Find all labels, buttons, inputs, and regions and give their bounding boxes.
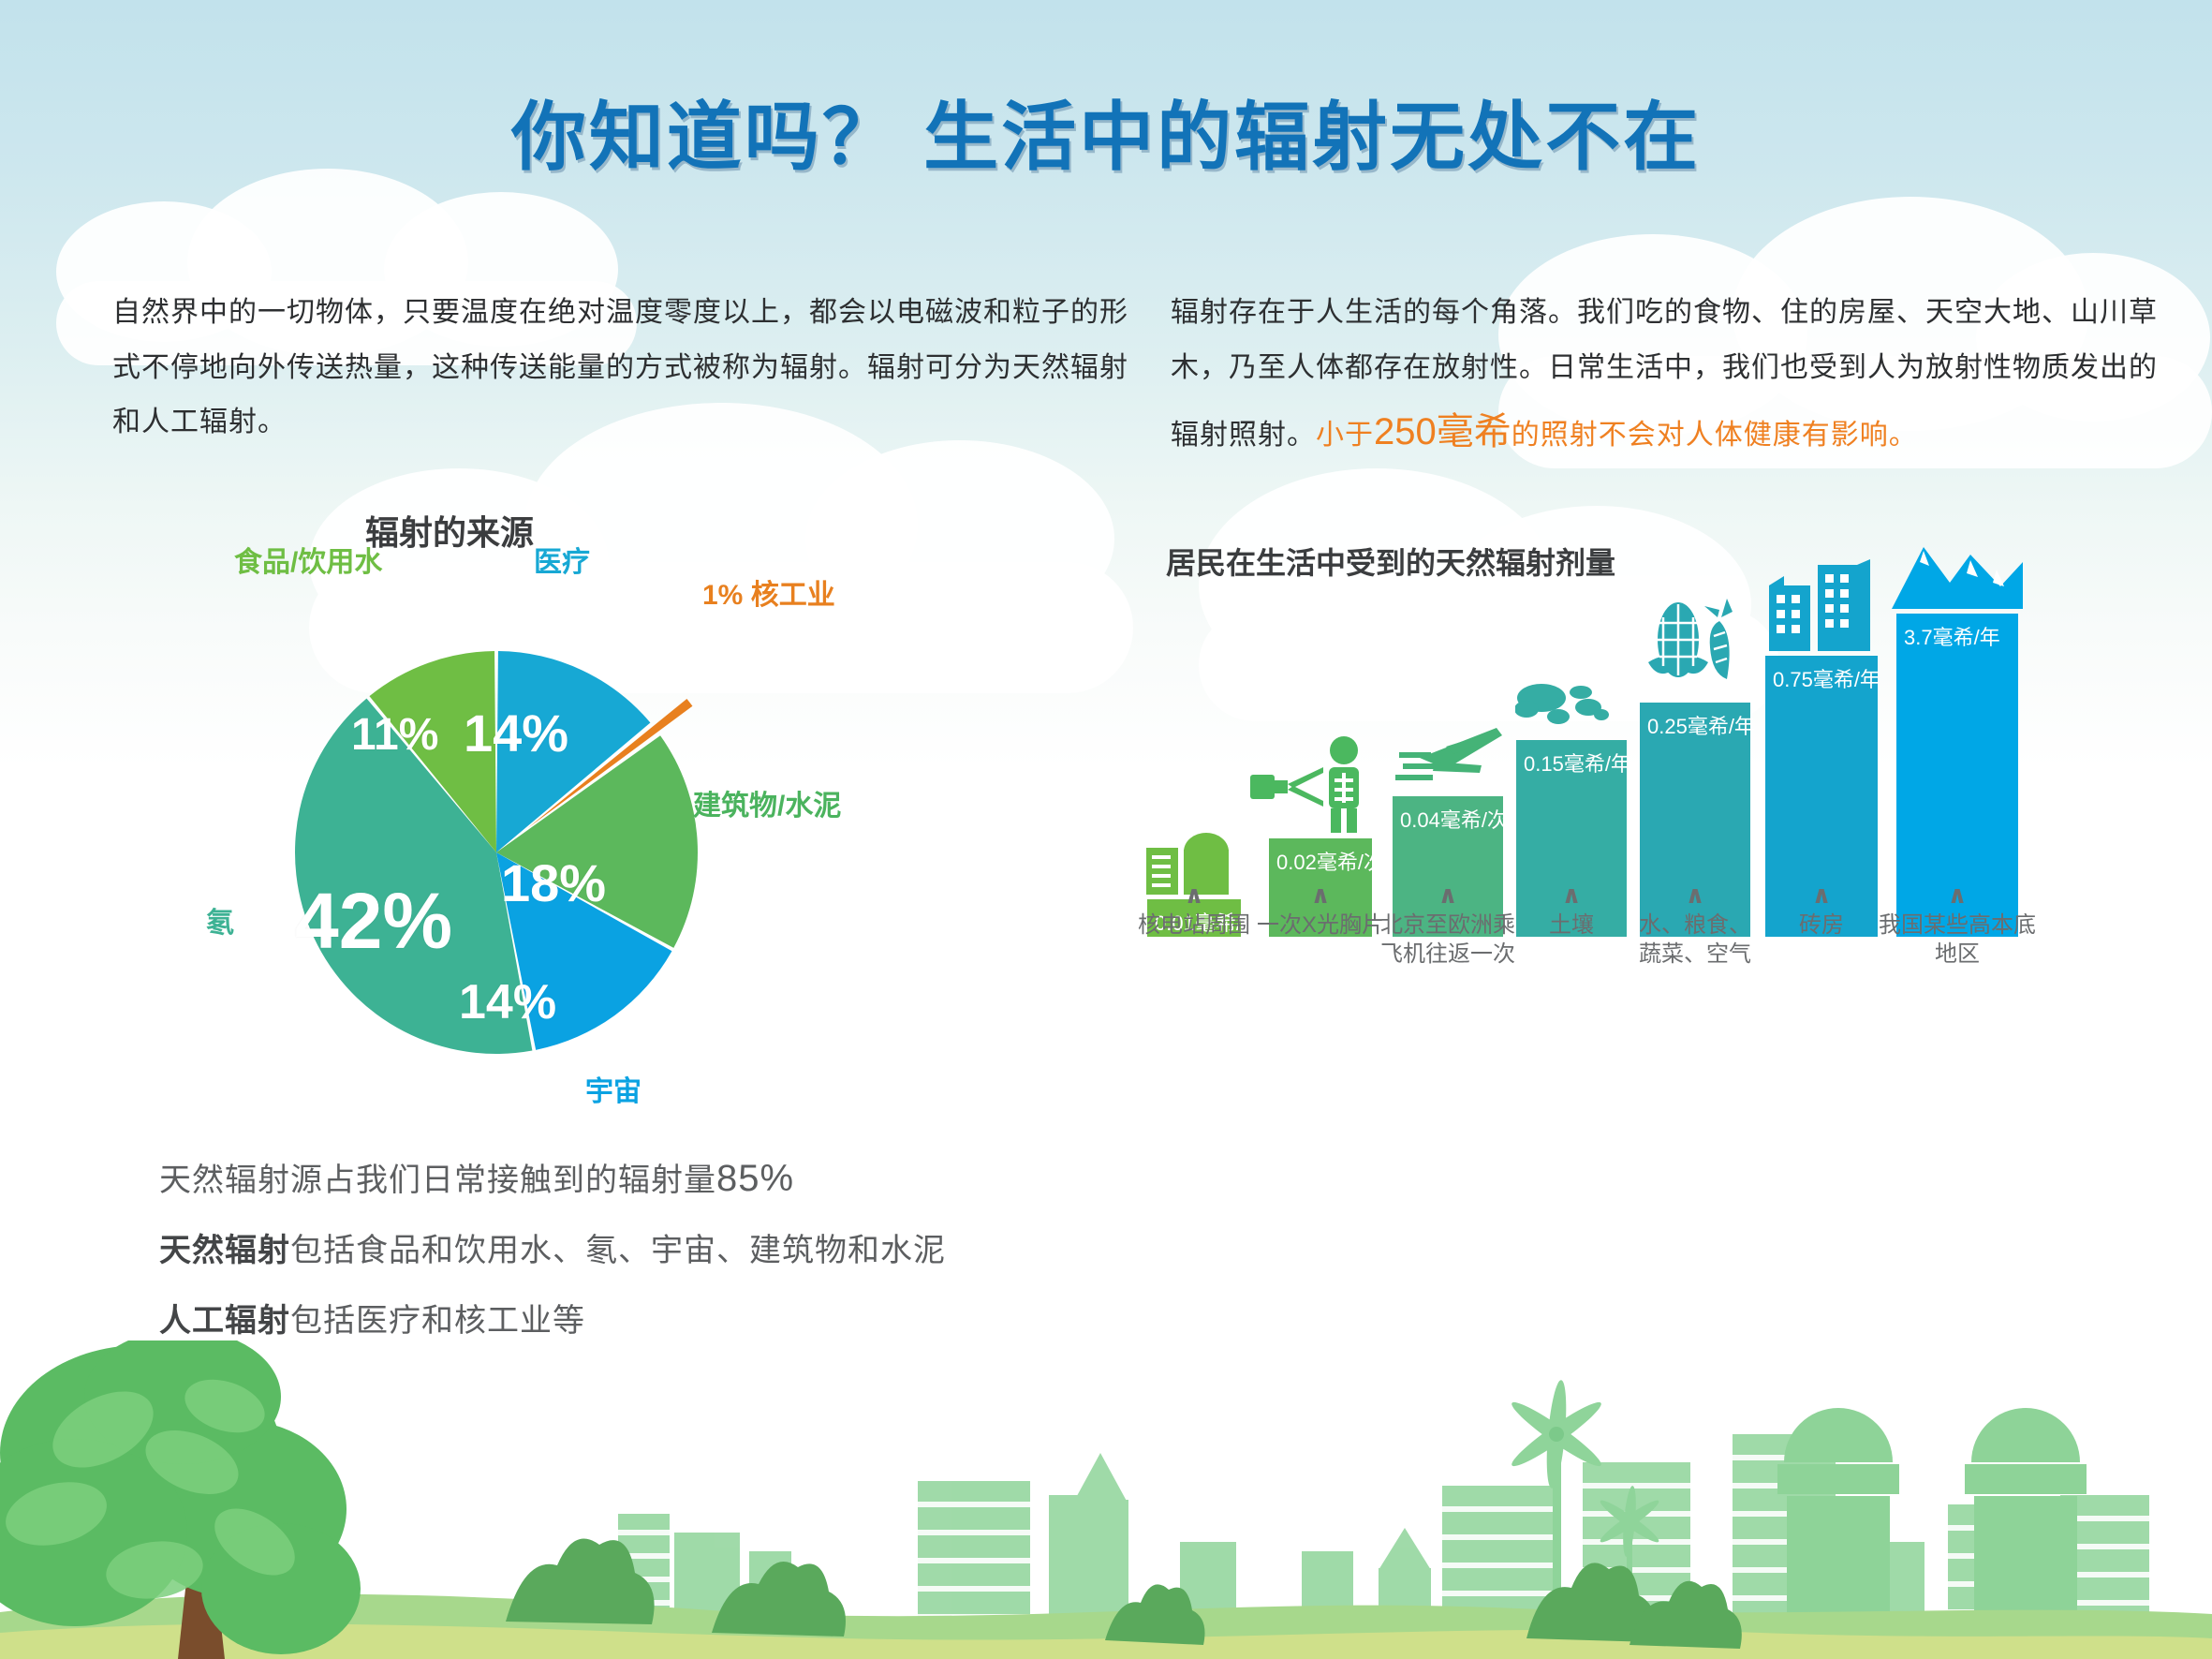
summary-line-2: 天然辐射包括食品和饮用水、氡、宇宙、建筑物和水泥 — [159, 1224, 946, 1270]
pie-label-medical: 医疗 — [534, 539, 590, 580]
highlight-value: 250毫希 — [1374, 411, 1512, 452]
bar-category-label: 我国某些高本底地区 — [1876, 911, 2039, 969]
bottom-scenery-illustration — [0, 1341, 2212, 1659]
summary-line-1-number: 85% — [716, 1158, 794, 1199]
soil-icon — [1515, 677, 1628, 740]
pie-label-radon: 氡 — [206, 899, 234, 941]
mountains-icon — [1892, 541, 2023, 614]
pie-value-food: 11% — [351, 709, 438, 761]
pie-chart-title: 辐射的来源 — [365, 506, 534, 555]
bar-value-label: 3.7毫希/年 — [1904, 621, 2000, 651]
pie-label-food: 食品/饮用水 — [234, 539, 382, 580]
pie-value-radon: 42% — [295, 876, 452, 967]
page-title: 你知道吗？ 生活中的辐射无处不在 — [0, 77, 2212, 185]
bar-caret-icon: ∧ — [1640, 882, 1750, 907]
intro-paragraph-right: 辐射存在于人生活的每个角落。我们吃的食物、住的房屋、天空大地、山川草木，乃至人体… — [1171, 286, 2163, 468]
bar-caret-icon: ∧ — [1765, 882, 1878, 907]
pie-value-building: 18% — [501, 852, 606, 913]
bar-category-label: 一次X光胸片 — [1248, 911, 1393, 940]
highlight-prefix: 小于 — [1316, 420, 1374, 451]
pie-label-cosmic: 宇宙 — [585, 1068, 641, 1109]
xray-icon — [1250, 735, 1391, 838]
summary-line-3: 人工辐射包括医疗和核工业等 — [159, 1295, 585, 1341]
bar-caret-icon: ∧ — [1147, 882, 1241, 907]
pie-value-cosmic: 14% — [459, 974, 556, 1030]
bar-category-label: 核电站周围 — [1127, 911, 1261, 940]
bar-caret-icon: ∧ — [1896, 882, 2018, 907]
bar-value-label: 0.25毫希/年 — [1647, 710, 1755, 740]
summary-line-3-text: 包括医疗和核工业等 — [290, 1303, 585, 1339]
summary-line-1: 天然辐射源占我们日常接触到的辐射量85% — [159, 1154, 794, 1200]
bar-caret-icon: ∧ — [1516, 882, 1627, 907]
summary-line-2-text: 包括食品和饮用水、氡、宇宙、建筑物和水泥 — [290, 1233, 946, 1268]
bar-value-label: 0.04毫希/次 — [1400, 804, 1508, 834]
pie-label-building: 建筑物/水泥 — [693, 782, 841, 823]
bar-value-label: 0.15毫希/年 — [1524, 748, 1631, 778]
summary-line-1-text: 天然辐射源占我们日常接触到的辐射量 — [159, 1163, 716, 1198]
crops-icon — [1639, 595, 1751, 703]
pie-chart: 11% 14% 18% 14% 42% 食品/饮用水 医疗 1% 核工业 建筑物… — [262, 618, 768, 1087]
intro-right-highlight: 小于250毫希的照射不会对人体健康有影响。 — [1316, 420, 1918, 451]
summary-line-2-bold: 天然辐射 — [159, 1233, 290, 1268]
pie-label-nuclear: 1% 核工业 — [702, 571, 835, 613]
pie-value-medical: 14% — [464, 703, 568, 763]
bar-value-label: 0.02毫希/次 — [1276, 846, 1384, 876]
highlight-suffix: 的照射不会对人体健康有影响。 — [1512, 420, 1918, 451]
airplane-icon — [1392, 720, 1504, 796]
nuclear-cooling-tower-illustration — [1777, 1408, 2087, 1627]
summary-line-3-bold: 人工辐射 — [159, 1303, 290, 1339]
bar-caret-icon: ∧ — [1269, 882, 1372, 907]
intro-paragraph-left: 自然界中的一切物体，只要温度在绝对温度零度以上，都会以电磁波和粒子的形式不停地向… — [112, 286, 1133, 451]
buildings-icon — [1765, 559, 1878, 656]
bar-chart: 0.01毫希/年 ∧核电站周围0.02毫希/次 ∧一次X光胸片0.04毫希/次 … — [1147, 543, 2187, 937]
bar-caret-icon: ∧ — [1393, 882, 1503, 907]
bar-value-label: 0.75毫希/年 — [1773, 663, 1880, 693]
